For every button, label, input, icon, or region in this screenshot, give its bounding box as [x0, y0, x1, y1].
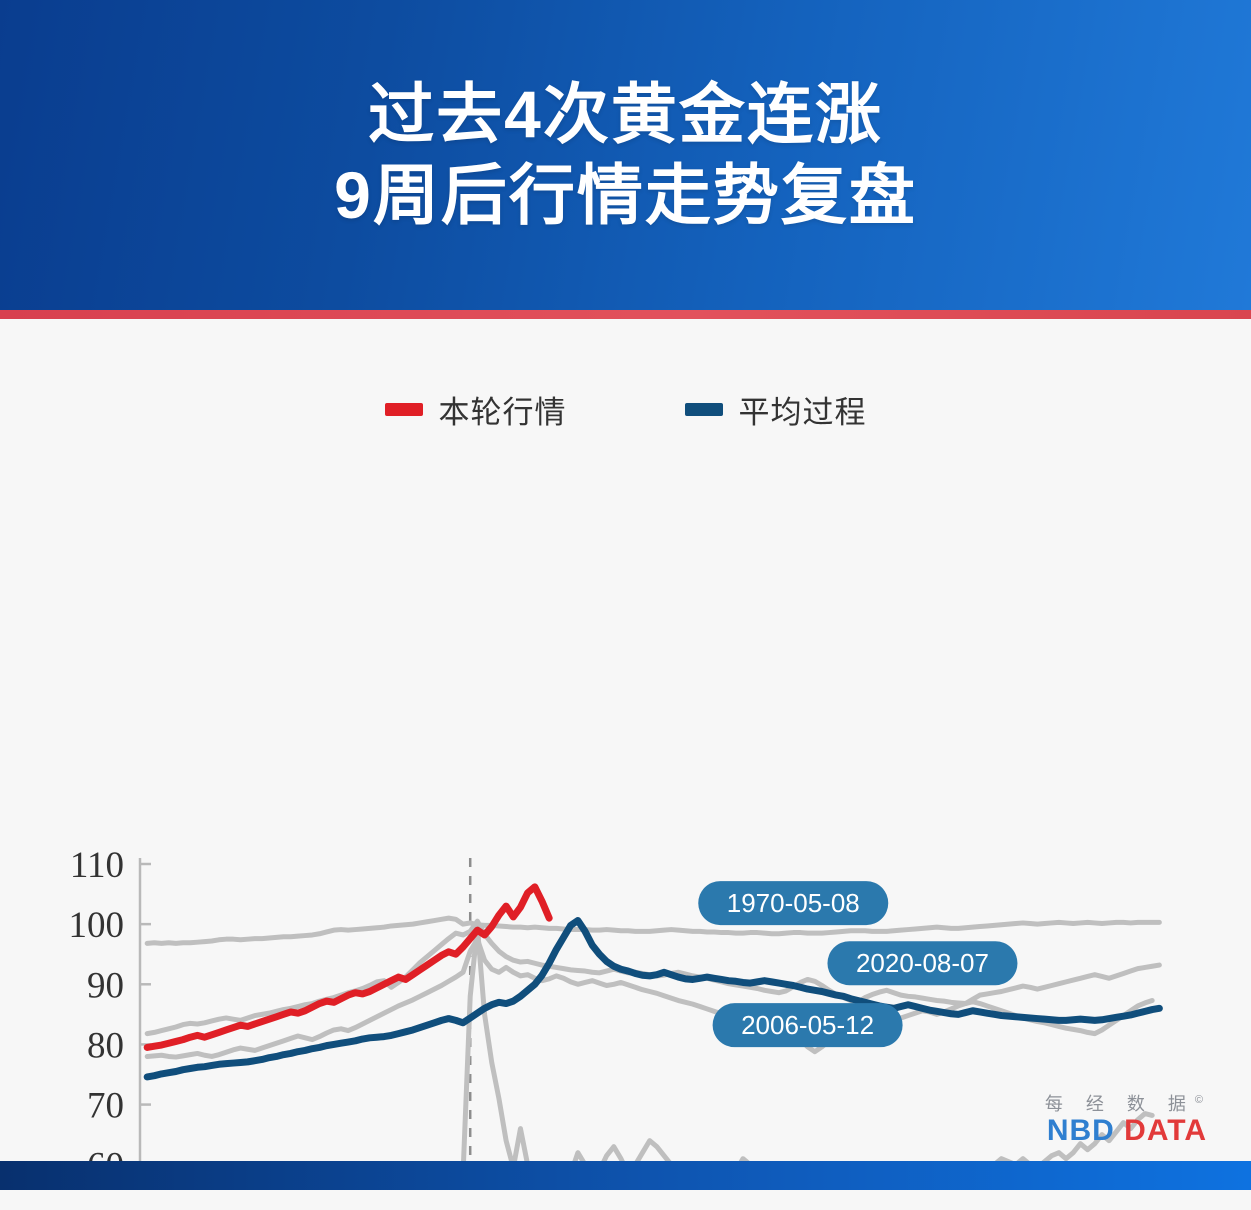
chart-annotation-badge: 2006-05-12: [713, 1003, 903, 1047]
bottom-accent-bar: [0, 1161, 1251, 1190]
brand-logo-nbd: NBD: [1047, 1114, 1115, 1147]
brand-logo-cn-text: 每 经 数 据: [1045, 1094, 1195, 1114]
chart-svg: 405060708090100110-45-39-33-27-21-15-9-3…: [0, 319, 1251, 1190]
y-tick-label: 70: [87, 1086, 124, 1127]
header-accent-stripe: [0, 310, 1251, 319]
page-title-line-1: 过去4次黄金连涨: [368, 74, 883, 155]
chart-annotation-badge: 1970-05-08: [698, 881, 888, 925]
page-title-line-2: 9周后行情走势复盘: [334, 155, 917, 236]
brand-logo-en: NBD DATA: [1045, 1114, 1209, 1148]
chart-panel: 本轮行情 平均过程 405060708090100110-45-39-33-27…: [0, 319, 1251, 1190]
header-banner: 过去4次黄金连涨 9周后行情走势复盘: [0, 0, 1251, 310]
chart-series-line: [147, 918, 1159, 943]
badge-label: 1970-05-08: [727, 888, 860, 918]
y-tick-label: 80: [87, 1025, 124, 1066]
y-tick-label: 90: [87, 965, 124, 1006]
line-chart: 405060708090100110-45-39-33-27-21-15-9-3…: [0, 319, 1251, 1190]
y-tick-label: 100: [69, 905, 125, 946]
copyright-mark: ©: [1195, 1094, 1203, 1106]
badge-label: 2006-05-12: [741, 1010, 874, 1040]
brand-logo-data: DATA: [1124, 1114, 1207, 1147]
y-tick-label: 110: [70, 845, 124, 886]
brand-logo-cn: 每 经 数 据©: [1045, 1090, 1209, 1116]
chart-annotation-badge: 2020-08-07: [827, 941, 1017, 985]
chart-series-line: [147, 921, 1159, 1077]
brand-logo: 每 经 数 据© NBD DATA: [1045, 1090, 1209, 1148]
badge-label: 2020-08-07: [856, 948, 989, 978]
